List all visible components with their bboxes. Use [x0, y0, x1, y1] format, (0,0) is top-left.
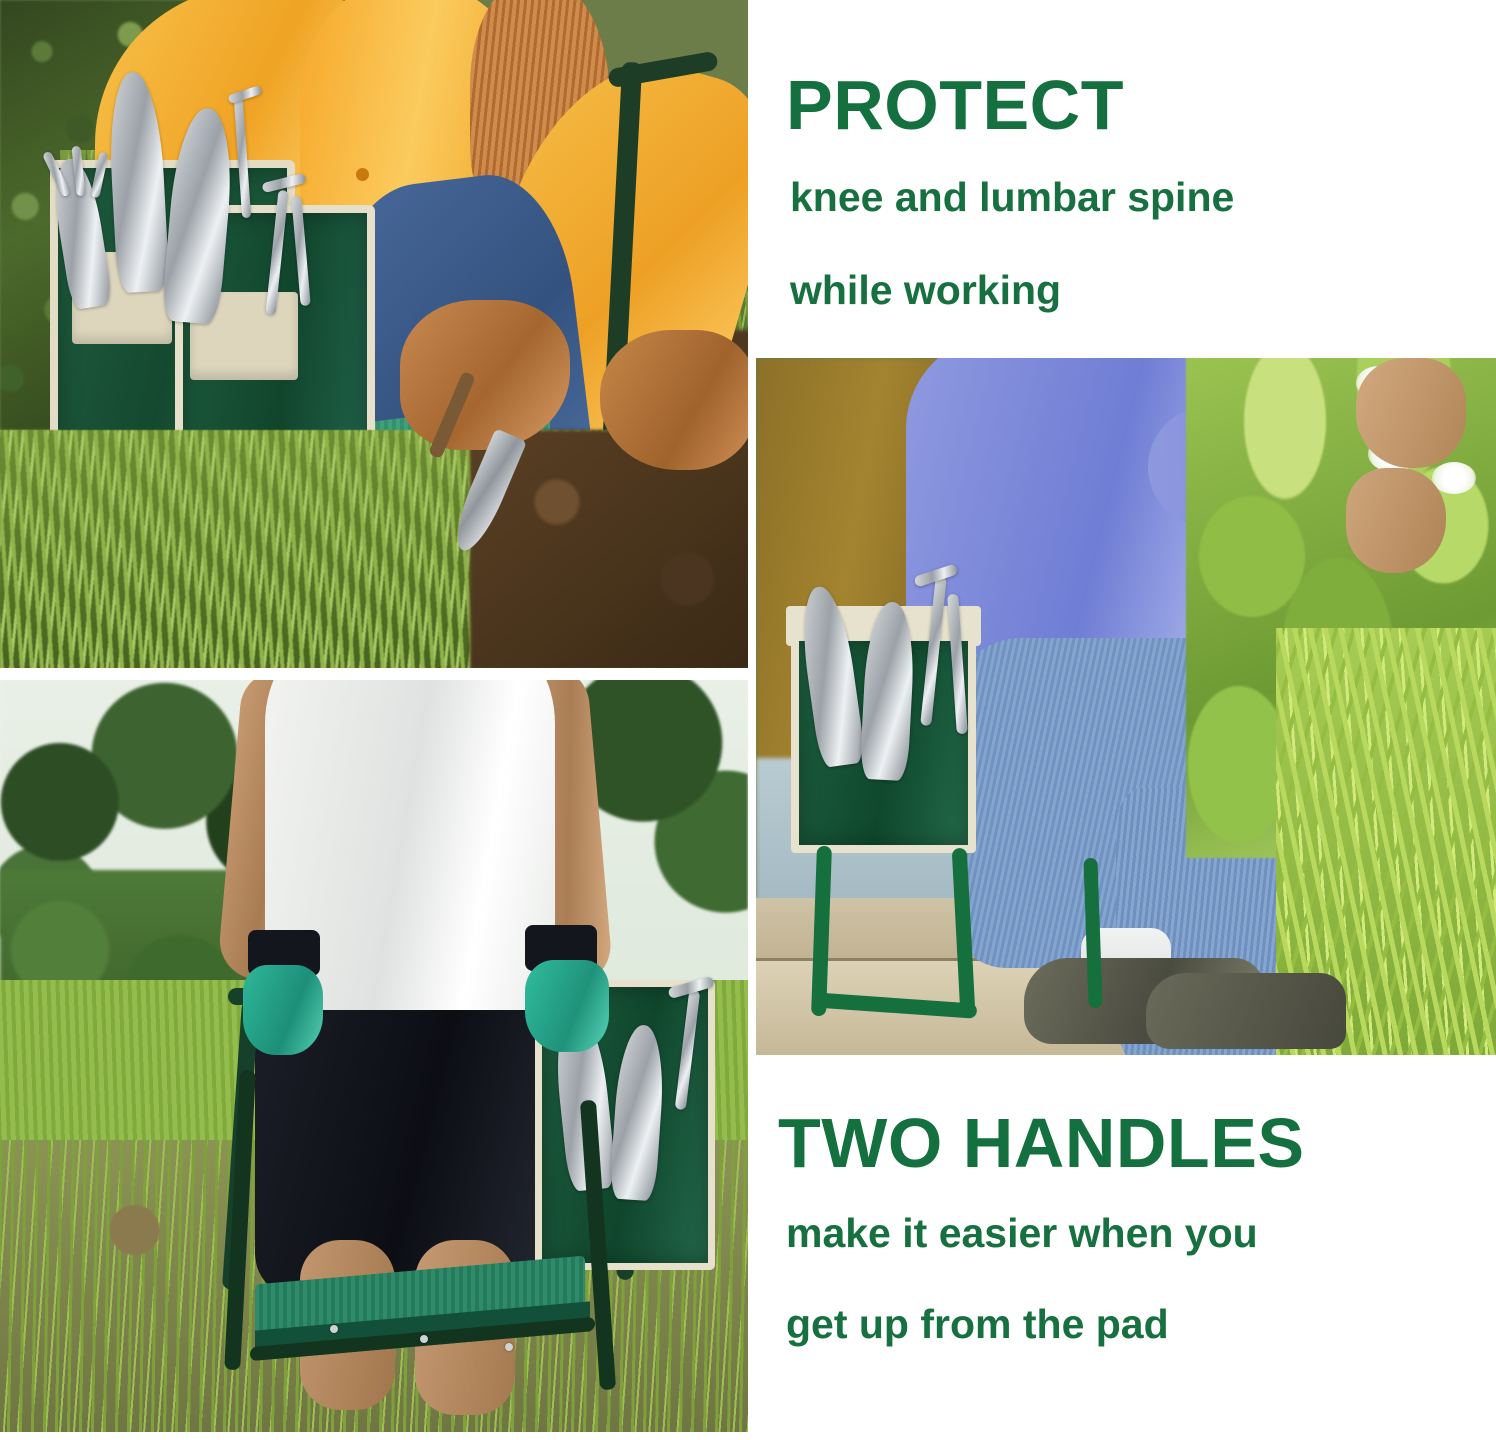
hand-lower [1346, 468, 1446, 573]
garden-shoe [1146, 973, 1346, 1049]
two-handles-text-block: TWO HANDLES make it easier when you get … [778, 1108, 1305, 1359]
protect-headline: PROTECT [786, 70, 1234, 140]
rivet [505, 1343, 513, 1351]
protect-text-block: PROTECT knee and lumbar spine while work… [786, 70, 1234, 325]
teal-glove-left [243, 965, 323, 1055]
two-handles-subline-1: make it easier when you [786, 1198, 1305, 1269]
protect-subline-2: while working [790, 255, 1234, 326]
two-handles-headline: TWO HANDLES [778, 1108, 1305, 1178]
black-shorts [255, 1010, 565, 1300]
person-lifting-kneeler-by-handles-photo [0, 680, 748, 1432]
rivet [330, 1325, 338, 1333]
two-handles-subline-2: get up from the pad [786, 1289, 1305, 1360]
poster-canvas: PROTECT knee and lumbar spine while work… [0, 0, 1496, 1440]
rivet [420, 1335, 428, 1343]
person-kneeling-on-garden-kneeler-photo [0, 0, 748, 668]
hand-upper [1356, 358, 1466, 468]
protect-subline-1: knee and lumbar spine [790, 162, 1234, 233]
jacket-button [356, 168, 369, 181]
person-sitting-on-kneeler-pruning-photo [756, 358, 1496, 1055]
teal-glove-right [525, 960, 609, 1052]
leather-glove-right [600, 330, 748, 470]
